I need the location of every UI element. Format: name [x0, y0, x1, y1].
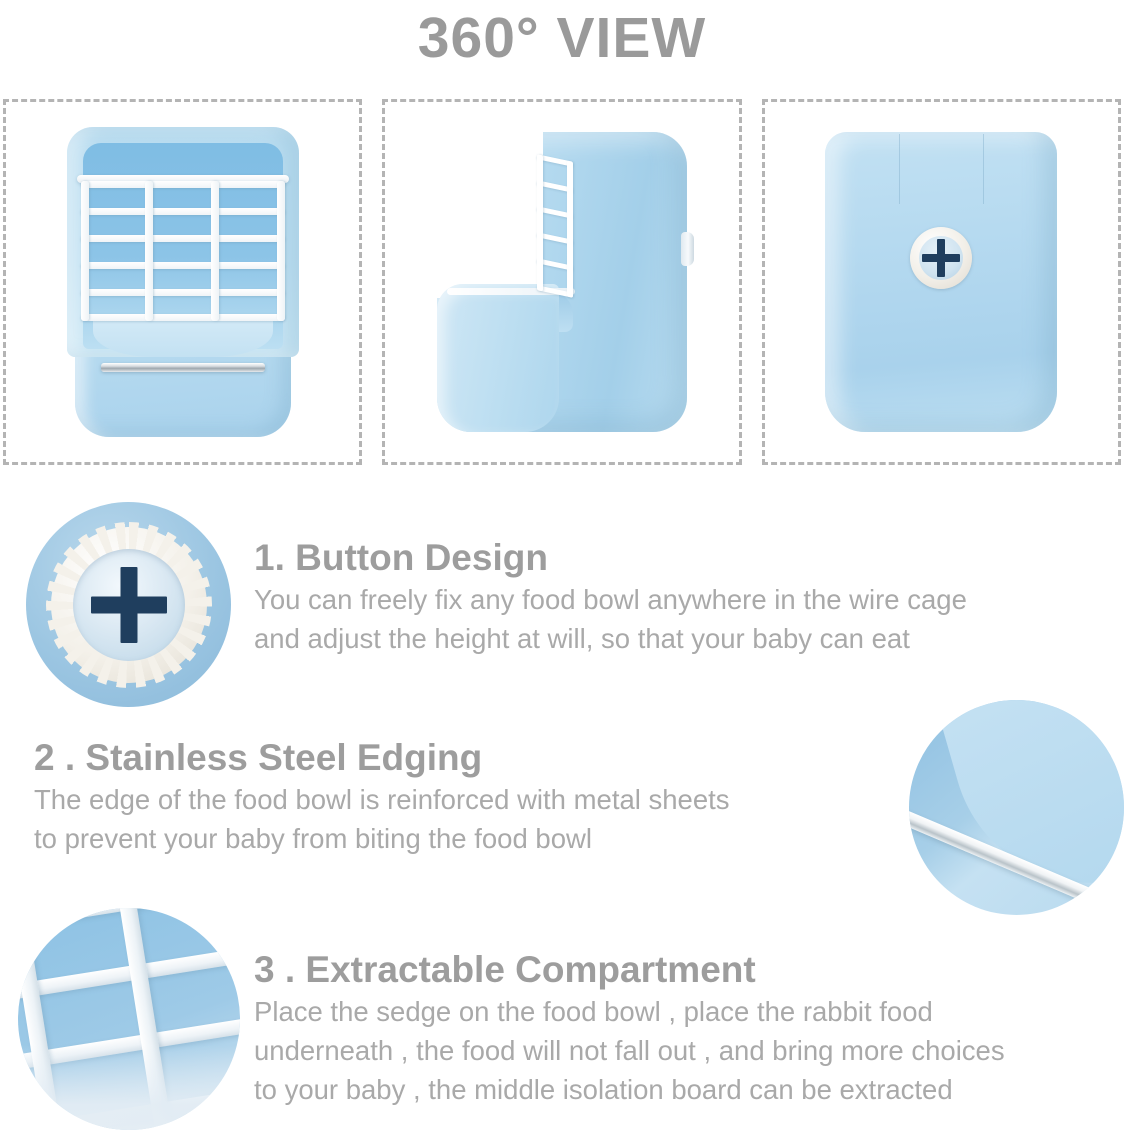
panel-back-view — [762, 99, 1121, 465]
feature-2-body-line-2: to prevent your baby from biting the foo… — [34, 819, 730, 858]
feature-row-extractable-compartment: 3 . Extractable Compartment Place the se… — [0, 908, 1124, 1130]
feature-2-text: 2 . Stainless Steel Edging The edge of t… — [34, 736, 730, 858]
feature-row-button-design: 1. Button Design You can freely fix any … — [0, 500, 1124, 700]
feature-3-title: 3 . Extractable Compartment — [254, 948, 1005, 992]
product-side-illustration — [437, 132, 687, 432]
feature-2-title: 2 . Stainless Steel Edging — [34, 736, 730, 780]
cross-button — [910, 227, 972, 289]
feature-3-body-line-3: to your baby , the middle isolation boar… — [254, 1070, 1005, 1109]
cross-icon-vertical — [120, 567, 137, 643]
product-view-panels — [3, 99, 1121, 465]
cross-icon-vertical — [937, 239, 945, 277]
feature-1-text: 1. Button Design You can freely fix any … — [254, 536, 967, 658]
feeder-front-cutout — [435, 132, 543, 297]
product-back-illustration — [825, 132, 1057, 432]
bowl-curve-shadow — [916, 700, 1124, 915]
feature-3-body-line-1: Place the sedge on the food bowl , place… — [254, 992, 1005, 1031]
panel-front-view — [3, 99, 362, 465]
feeder-front-wall — [437, 284, 559, 432]
feature-3-text: 3 . Extractable Compartment Place the se… — [254, 948, 1005, 1109]
feature-row-stainless-steel-edging: 2 . Stainless Steel Edging The edge of t… — [0, 700, 1124, 915]
wire-grid — [81, 181, 285, 321]
feature-1-title: 1. Button Design — [254, 536, 967, 580]
feature-3-image — [18, 908, 240, 1130]
image-fade-overlay — [18, 1045, 240, 1130]
product-front-illustration — [67, 127, 299, 437]
feature-2-body-line-1: The edge of the food bowl is reinforced … — [34, 780, 730, 819]
feature-2-image — [909, 700, 1124, 915]
panel-side-view — [382, 99, 741, 465]
mounting-knob — [681, 232, 694, 266]
feature-1-body-line-1: You can freely fix any food bowl anywher… — [254, 580, 967, 619]
feature-1-image — [26, 502, 231, 707]
page-title: 360° VIEW — [0, 2, 1124, 74]
stainless-steel-strip — [101, 363, 265, 372]
feature-1-body-line-2: and adjust the height at will, so that y… — [254, 619, 967, 658]
feeder-inner-lip — [93, 317, 273, 357]
wire-grid-side — [537, 154, 573, 298]
feature-3-body-line-2: underneath , the food will not fall out … — [254, 1031, 1005, 1070]
